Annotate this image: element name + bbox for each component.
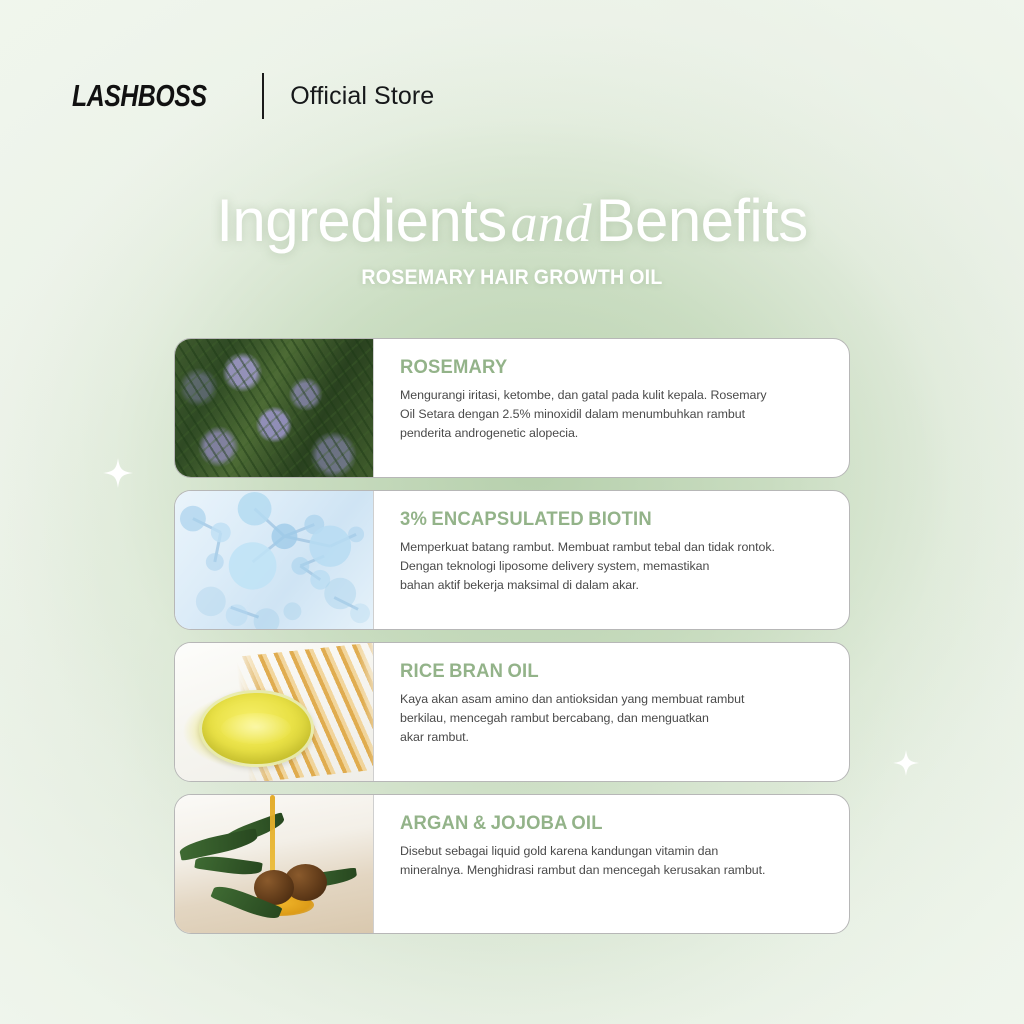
- brand-header: LASHBOSS Official Store: [72, 70, 434, 122]
- card-title: RICE BRAN OIL: [400, 661, 814, 683]
- official-store-label: Official Store: [290, 82, 434, 111]
- oil-stream: [270, 795, 275, 881]
- ingredient-card-biotin[interactable]: 3% ENCAPSULATED BIOTIN Memperkuat batang…: [174, 490, 850, 630]
- sparkle-icon: [893, 750, 919, 776]
- argan-jojoba-oil-photo: [175, 795, 374, 933]
- card-description: Kaya akan asam amino dan antioksidan yan…: [400, 690, 827, 747]
- sparkle-icon: [103, 458, 133, 488]
- title-part-1: Ingredients: [216, 187, 506, 254]
- card-description: Disebut sebagai liquid gold karena kandu…: [400, 842, 827, 880]
- ingredient-card-list: ROSEMARY Mengurangi iritasi, ketombe, da…: [174, 338, 850, 946]
- card-description: Mengurangi iritasi, ketombe, dan gatal p…: [400, 386, 827, 443]
- title-part-2: Benefits: [596, 187, 808, 254]
- card-body: ARGAN & JOJOBA OIL Disebut sebagai liqui…: [374, 795, 849, 933]
- card-title: 3% ENCAPSULATED BIOTIN: [400, 509, 814, 531]
- ingredient-card-argan-jojoba[interactable]: ARGAN & JOJOBA OIL Disebut sebagai liqui…: [174, 794, 850, 934]
- ingredient-card-rosemary[interactable]: ROSEMARY Mengurangi iritasi, ketombe, da…: [174, 338, 850, 478]
- molecule-structure-illustration: [175, 491, 374, 629]
- ingredient-card-rice-bran[interactable]: RICE BRAN OIL Kaya akan asam amino dan a…: [174, 642, 850, 782]
- title-and-word: and: [507, 193, 596, 253]
- olive-leaf: [194, 854, 263, 878]
- card-title: ARGAN & JOJOBA OIL: [400, 813, 814, 835]
- molecule-icon: [175, 491, 373, 629]
- header-divider: [262, 73, 264, 119]
- oil-bowl: [199, 690, 314, 767]
- card-body: ROSEMARY Mengurangi iritasi, ketombe, da…: [374, 339, 849, 477]
- rosemary-plant-photo: [175, 339, 374, 477]
- card-body: 3% ENCAPSULATED BIOTIN Memperkuat batang…: [374, 491, 849, 629]
- rice-bran-oil-bowl-photo: [175, 643, 374, 781]
- page-subtitle: ROSEMARY HAIR GROWTH OIL: [36, 266, 988, 290]
- card-description: Memperkuat batang rambut. Membuat rambut…: [400, 538, 827, 595]
- hero-title-block: IngredientsandBenefits ROSEMARY HAIR GRO…: [0, 190, 1024, 290]
- card-body: RICE BRAN OIL Kaya akan asam amino dan a…: [374, 643, 849, 781]
- lashboss-logo: LASHBOSS: [72, 78, 207, 114]
- card-title: ROSEMARY: [400, 357, 814, 379]
- page-title: IngredientsandBenefits: [0, 190, 1024, 252]
